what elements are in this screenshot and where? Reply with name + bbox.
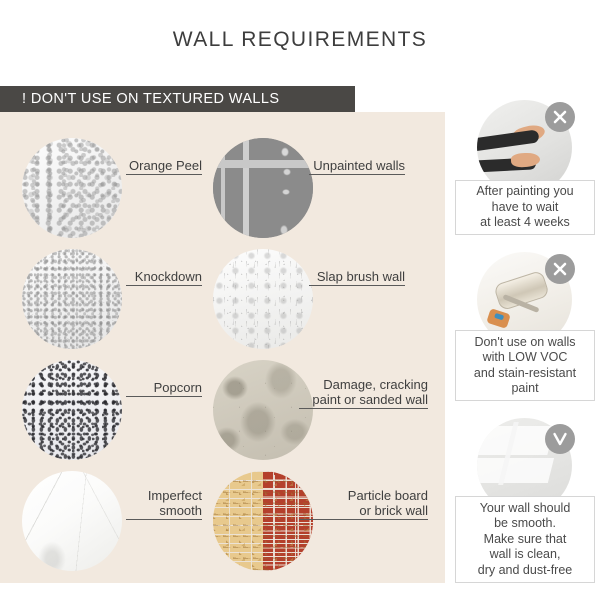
damaged-wall-swatch: [213, 360, 313, 460]
tip-text: Don't use on walls with LOW VOC and stai…: [474, 335, 576, 397]
slap-brush-swatch: [213, 249, 313, 349]
tip-text-box: Your wall should be smooth. Make sure th…: [455, 496, 595, 583]
particle-brick-swatch: [213, 471, 313, 571]
popcorn-swatch: [22, 360, 122, 460]
unpainted-walls-swatch: [213, 138, 313, 238]
sample-popcorn: Popcorn: [22, 360, 202, 460]
tip-card-smooth-clean-wall: Your wall should be smooth. Make sure th…: [455, 418, 595, 583]
tip-card-low-voc-paint: Don't use on walls with LOW VOC and stai…: [455, 252, 595, 402]
sample-knockdown: Knockdown: [22, 249, 202, 349]
sample-label: Knockdown: [126, 254, 202, 301]
sample-label: Unpainted walls: [309, 143, 405, 190]
warning-banner-label: ! DON'T USE ON TEXTURED WALLS: [22, 86, 279, 112]
sample-particle-brick-wall: Particle board or brick wall: [213, 471, 428, 571]
sample-slap-brush-wall: Slap brush wall: [213, 249, 403, 349]
orange-peel-swatch: [22, 138, 122, 238]
sample-unpainted-walls: Unpainted walls: [213, 138, 403, 238]
cross-icon: [545, 254, 575, 284]
sample-label: Particle board or brick wall: [299, 473, 428, 535]
imperfect-smooth-swatch: [22, 471, 122, 571]
tip-text-box: Don't use on walls with LOW VOC and stai…: [455, 330, 595, 401]
wall-requirements-infographic: WALL REQUIREMENTS ! DON'T USE ON TEXTURE…: [0, 0, 600, 600]
tip-text: Your wall should be smooth. Make sure th…: [478, 501, 573, 579]
check-icon: [545, 424, 575, 454]
sample-imperfect-smooth: Imperfect smooth: [22, 471, 202, 571]
tip-text-box: After painting you have to wait at least…: [455, 180, 595, 235]
cross-icon: [545, 102, 575, 132]
sample-label: Damage, cracking paint or sanded wall: [299, 362, 428, 424]
warning-banner: ! DON'T USE ON TEXTURED WALLS: [0, 86, 355, 112]
sample-damaged-wall: Damage, cracking paint or sanded wall: [213, 360, 428, 460]
sample-label: Imperfect smooth: [126, 473, 202, 535]
page-title: WALL REQUIREMENTS: [0, 28, 600, 52]
tip-text: After painting you have to wait at least…: [476, 184, 573, 231]
sample-orange-peel: Orange Peel: [22, 138, 202, 238]
tip-card-wait-4-weeks: After painting you have to wait at least…: [455, 100, 595, 235]
sample-label: Popcorn: [126, 365, 202, 412]
knockdown-swatch: [22, 249, 122, 349]
sample-label: Orange Peel: [126, 143, 202, 190]
sample-label: Slap brush wall: [309, 254, 405, 301]
